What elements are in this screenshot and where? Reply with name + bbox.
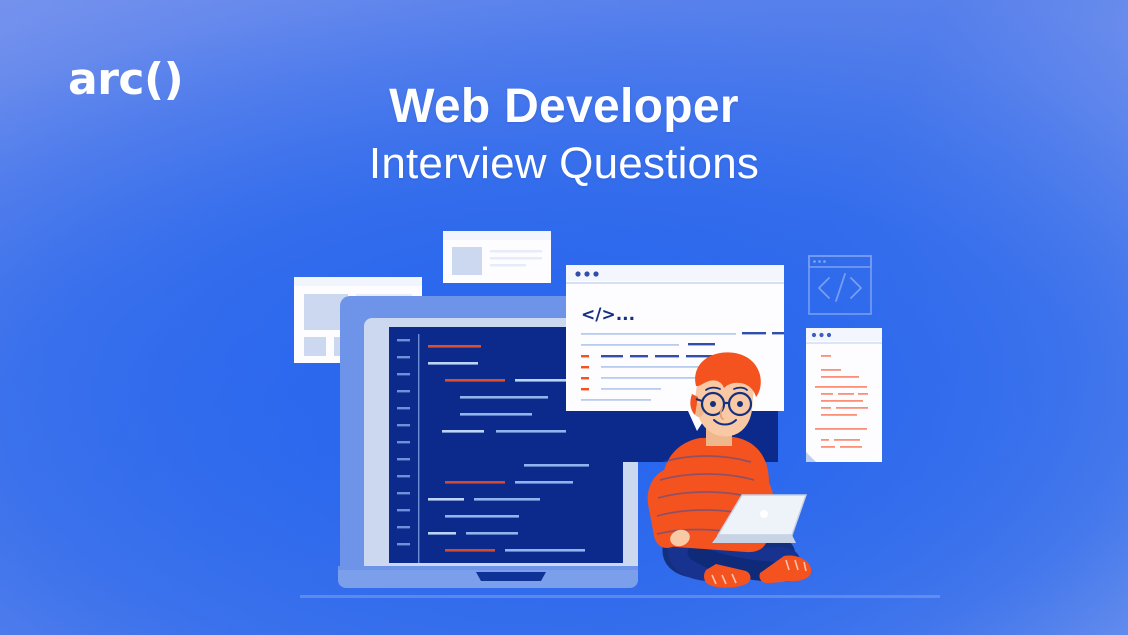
laptop-trackpad-notch bbox=[476, 572, 546, 581]
laptop-hinge bbox=[338, 566, 638, 570]
hero-illustration: </>... bbox=[0, 0, 1128, 635]
ground-line bbox=[300, 595, 940, 598]
card-top-banner bbox=[443, 231, 551, 283]
gutter-divider bbox=[418, 334, 419, 564]
window-dots bbox=[575, 271, 598, 276]
code-chevron-icon bbox=[819, 274, 861, 301]
code-icon-window bbox=[809, 256, 871, 314]
poster-canvas: arc() Web Developer Interview Questions bbox=[0, 0, 1128, 635]
illustration-svg: </>... bbox=[0, 0, 1128, 635]
character-eye-right bbox=[737, 401, 743, 407]
code-bubble-label: </>... bbox=[581, 305, 635, 325]
character-eye-left bbox=[710, 401, 716, 407]
side-document-window bbox=[806, 328, 882, 462]
document-dots bbox=[812, 333, 831, 337]
